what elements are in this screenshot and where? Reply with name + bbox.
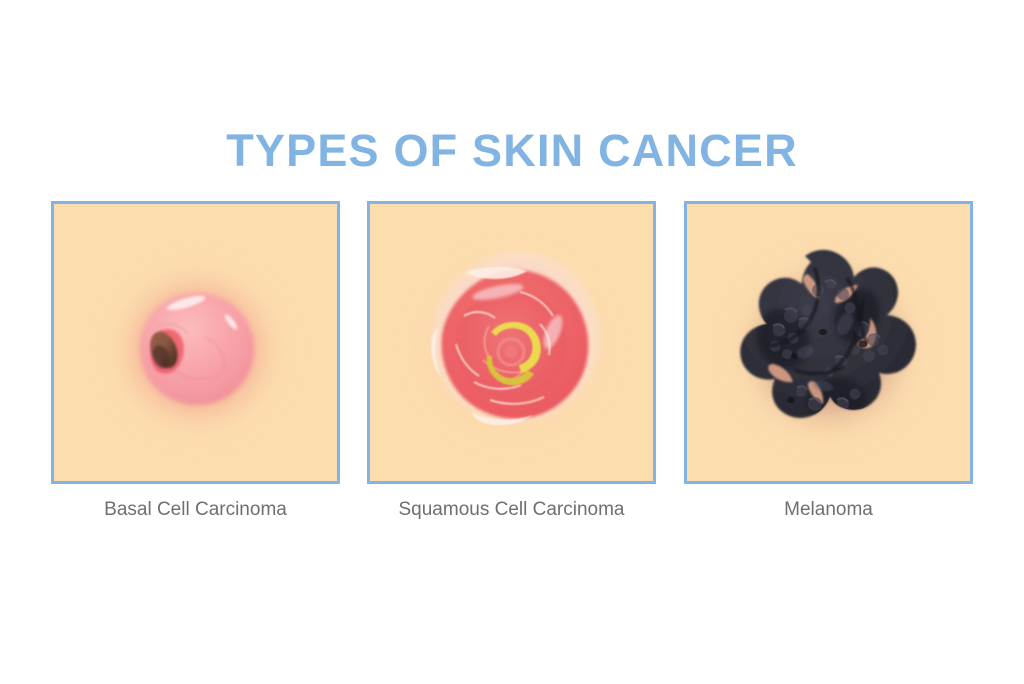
illustration-frame-squamous-cell-carcinoma — [367, 201, 656, 484]
caption-squamous-cell-carcinoma: Squamous Cell Carcinoma — [367, 498, 656, 522]
panel-row: Basal Cell Carcinoma — [51, 201, 973, 531]
caption-basal-cell-carcinoma: Basal Cell Carcinoma — [51, 498, 340, 522]
squamous-cell-carcinoma-illustration — [370, 204, 653, 481]
illustration-frame-melanoma — [684, 201, 973, 484]
panel-melanoma[interactable]: Melanoma — [684, 201, 973, 522]
melanoma-illustration — [687, 204, 970, 481]
page-title: TYPES OF SKIN CANCER — [0, 125, 1024, 177]
panel-basal-cell-carcinoma[interactable]: Basal Cell Carcinoma — [51, 201, 340, 522]
infographic-canvas: TYPES OF SKIN CANCER — [0, 0, 1024, 684]
panel-squamous-cell-carcinoma[interactable]: Squamous Cell Carcinoma — [367, 201, 656, 522]
illustration-frame-basal-cell-carcinoma — [51, 201, 340, 484]
caption-melanoma: Melanoma — [684, 498, 973, 522]
basal-cell-carcinoma-illustration — [54, 204, 337, 481]
